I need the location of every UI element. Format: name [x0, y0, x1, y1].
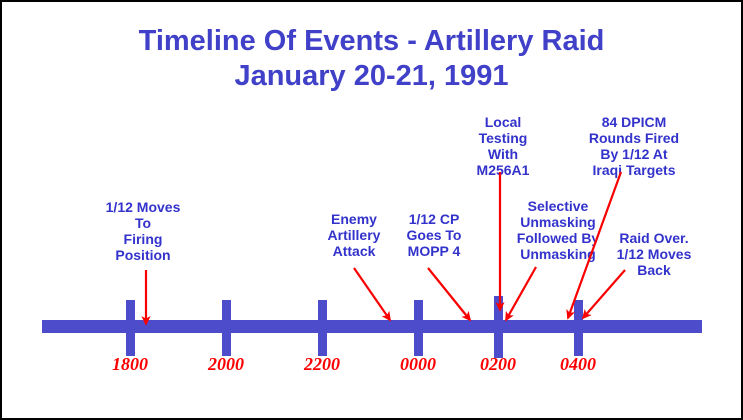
event-label-cp-goes-to-mopp-4: 1/12 CPGoes ToMOPP 4 — [407, 211, 462, 259]
tick-label-0200: 0200 — [453, 354, 543, 375]
event-label-line: By 1/12 At — [589, 146, 679, 162]
arrow-enemy-artillery-attack — [354, 268, 390, 320]
page-title: Timeline Of Events - Artillery Raid Janu… — [2, 24, 741, 94]
event-label-line: Testing — [477, 130, 530, 146]
event-label-raid-over-moves-back: Raid Over.1/12 MovesBack — [617, 230, 692, 278]
slide-canvas: Timeline Of Events - Artillery Raid Janu… — [2, 2, 741, 418]
timeline-tick-1800 — [126, 300, 135, 356]
title-line-2: January 20-21, 1991 — [2, 59, 741, 94]
event-label-line: Iraqi Targets — [589, 162, 679, 178]
event-label-dpicm-rounds-fired: 84 DPICMRounds FiredBy 1/12 AtIraqi Targ… — [589, 114, 679, 178]
timeline-tick-0000 — [414, 300, 423, 356]
event-label-line: Raid Over. — [617, 230, 692, 246]
event-label-line: Selective — [517, 198, 599, 214]
event-label-line: Attack — [328, 243, 381, 259]
tick-label-1800: 1800 — [85, 354, 175, 375]
timeline-tick-2200 — [318, 300, 327, 356]
event-label-move-to-firing-position: 1/12 MovesToFiringPosition — [106, 199, 181, 263]
title-line-1: Timeline Of Events - Artillery Raid — [2, 24, 741, 59]
tick-label-0400: 0400 — [533, 354, 623, 375]
event-label-enemy-artillery-attack: EnemyArtilleryAttack — [328, 211, 381, 259]
event-label-line: Unmasking — [517, 214, 599, 230]
arrow-cp-goes-to-mopp-4 — [428, 268, 470, 320]
tick-label-0000: 0000 — [373, 354, 463, 375]
event-label-line: MOPP 4 — [407, 243, 462, 259]
event-label-line: 1/12 Moves — [106, 199, 181, 215]
event-label-line: Unmasking — [517, 246, 599, 262]
event-label-line: Back — [617, 262, 692, 278]
event-label-line: Followed By — [517, 230, 599, 246]
event-label-line: With — [477, 146, 530, 162]
event-label-line: M256A1 — [477, 162, 530, 178]
event-label-line: 1/12 Moves — [617, 246, 692, 262]
tick-label-2200: 2200 — [277, 354, 367, 375]
timeline-tick-2000 — [222, 300, 231, 356]
event-label-selective-unmasking: SelectiveUnmaskingFollowed ByUnmasking — [517, 198, 599, 262]
event-label-line: Enemy — [328, 211, 381, 227]
tick-label-2000: 2000 — [181, 354, 271, 375]
timeline-axis — [42, 320, 702, 333]
arrow-selective-unmasking — [506, 267, 536, 320]
event-label-line: Rounds Fired — [589, 130, 679, 146]
event-label-line: Goes To — [407, 227, 462, 243]
timeline-tick-0200 — [494, 296, 503, 358]
event-label-line: Firing — [106, 231, 181, 247]
event-label-line: 1/12 CP — [407, 211, 462, 227]
event-label-line: To — [106, 215, 181, 231]
event-label-line: Position — [106, 247, 181, 263]
event-label-local-testing-m256a1: LocalTestingWithM256A1 — [477, 114, 530, 178]
timeline-tick-0400 — [574, 300, 583, 356]
event-label-line: Local — [477, 114, 530, 130]
timeline-slide: Timeline Of Events - Artillery Raid Janu… — [0, 0, 743, 420]
event-label-line: Artillery — [328, 227, 381, 243]
event-label-line: 84 DPICM — [589, 114, 679, 130]
